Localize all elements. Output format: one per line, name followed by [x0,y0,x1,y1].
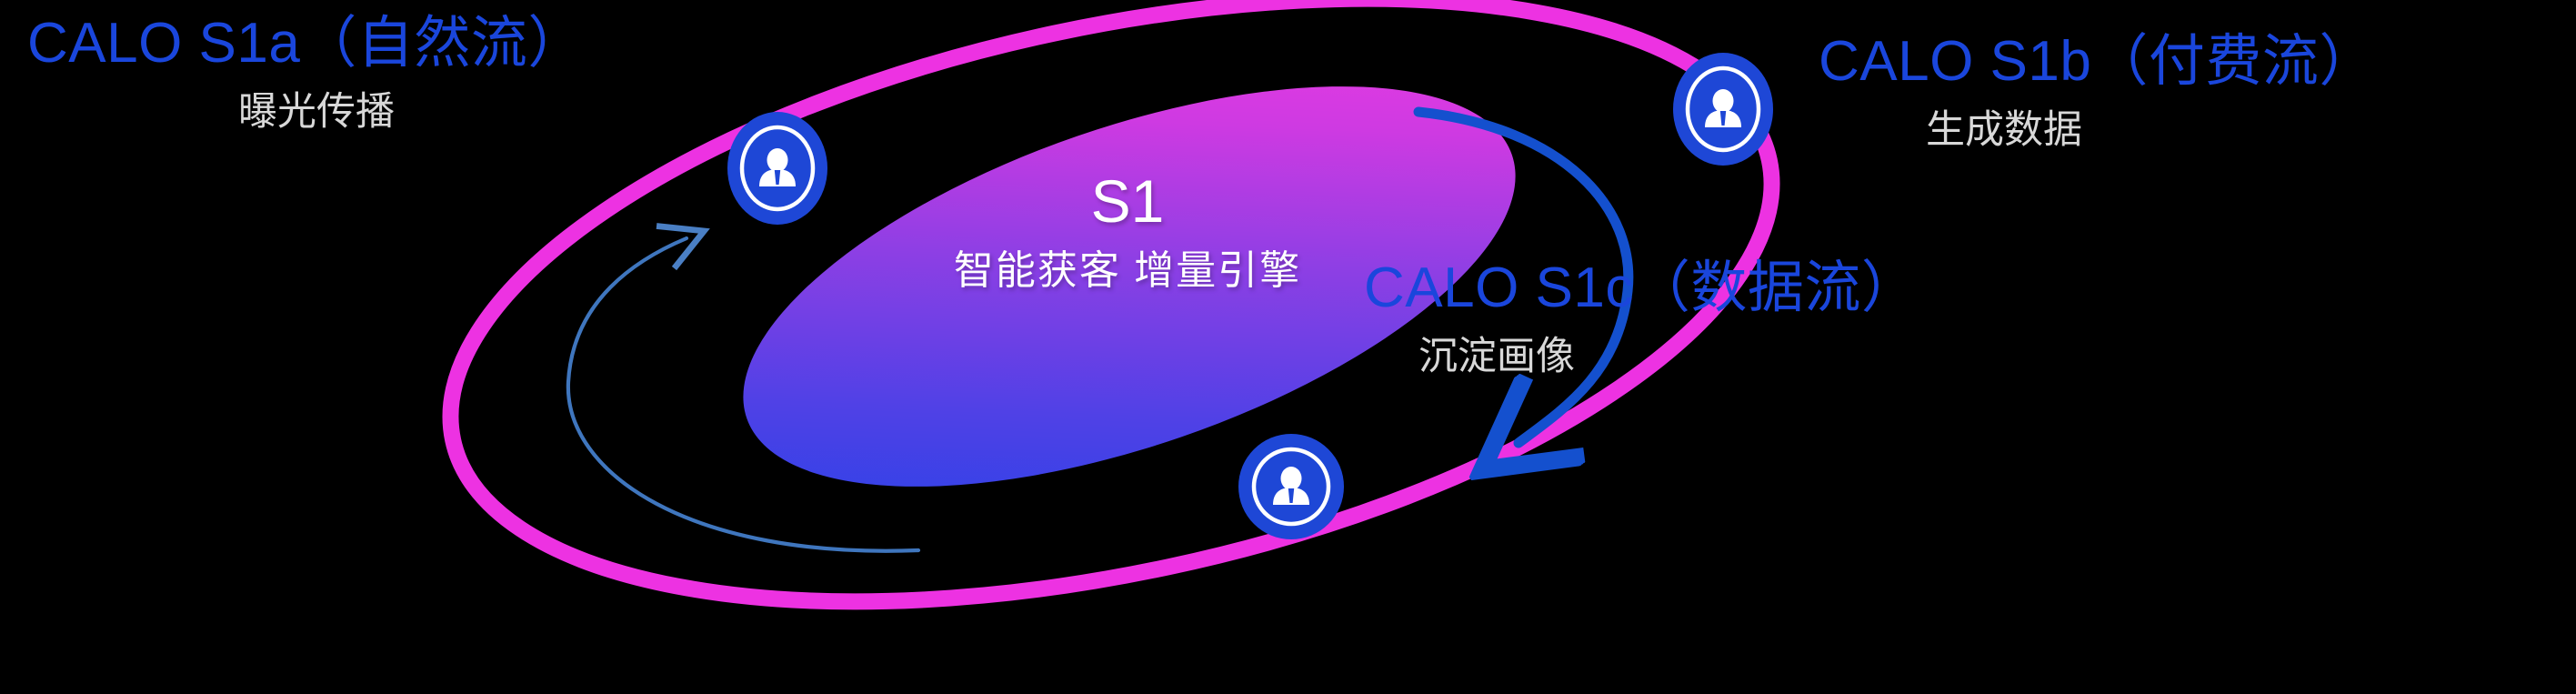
node-s1a[interactable] [727,112,827,225]
label-title-s1c: CALO S1c（数据流） [1364,259,1918,317]
label-subtitle-s1c: 沉淀画像 [1418,337,1918,377]
label-title-s1b: CALO S1b（付费流） [1819,33,2376,90]
node-s1b[interactable] [1673,53,1773,166]
label-title-s1a: CALO S1a（自然流） [27,15,585,72]
label-group-s1c: CALO S1c（数据流） 沉淀画像 [1364,259,1918,377]
label-group-s1b: CALO S1b（付费流） 生成数据 [1819,33,2376,151]
label-subtitle-s1a: 曝光传播 [238,92,585,133]
label-subtitle-s1b: 生成数据 [1926,110,2376,151]
label-group-s1a: CALO S1a（自然流） 曝光传播 [27,15,585,133]
diagram-canvas: S1 智能获客 增量引擎 CALO S1a（自然流） 曝光传播 CALO S1b… [0,0,2576,694]
node-s1c[interactable] [1238,434,1344,539]
